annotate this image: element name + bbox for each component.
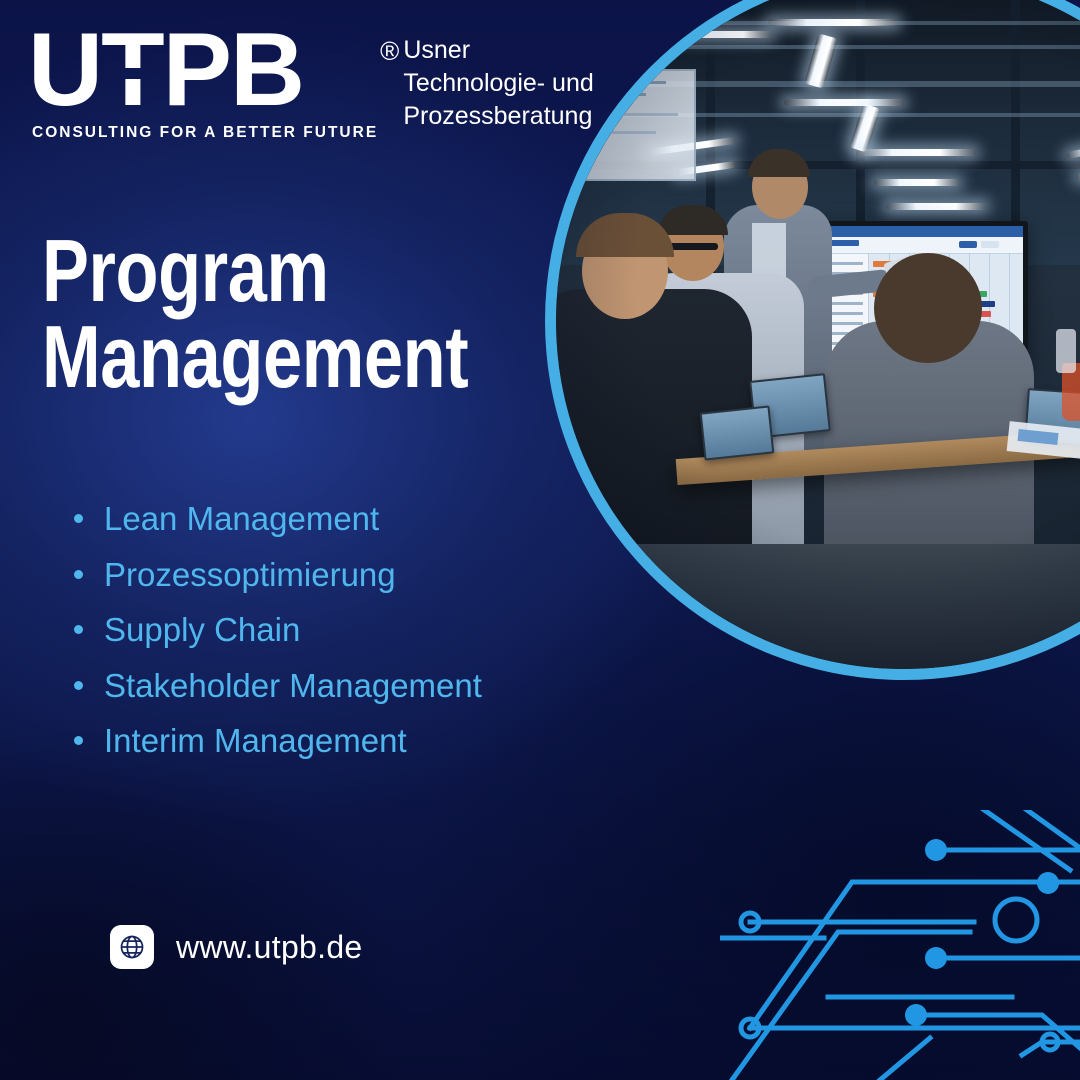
- circuit-node-dot: [1037, 872, 1059, 894]
- page-title: Program Management: [42, 228, 468, 400]
- services-list: Lean Management Prozessoptimierung Suppl…: [66, 502, 482, 780]
- bullet-dot-icon: [74, 625, 83, 634]
- bullet-dot-icon: [74, 514, 83, 523]
- marketing-poster: U T P B CONSULTING FOR A BETTER FUTURE ®…: [0, 0, 1080, 1080]
- logo-wordmark: U T P B: [28, 22, 378, 120]
- list-item-label: Supply Chain: [104, 611, 300, 648]
- globe-icon: [110, 925, 154, 969]
- photo-scene: [556, 0, 1080, 669]
- list-item: Stakeholder Management: [66, 669, 482, 702]
- brand-logo: U T P B CONSULTING FOR A BETTER FUTURE ®…: [28, 22, 594, 142]
- list-item: Supply Chain: [66, 613, 482, 646]
- circuit-node-dot: [905, 1004, 927, 1026]
- circuit-node-dot: [925, 839, 947, 861]
- list-item-label: Prozessoptimierung: [104, 556, 396, 593]
- list-item: Interim Management: [66, 724, 482, 757]
- company-name-line-1: Usner: [403, 34, 593, 67]
- logo-letter-u: U: [28, 22, 101, 120]
- bullet-dot-icon: [74, 570, 83, 579]
- logo-letter-t: T: [101, 22, 163, 120]
- company-name: Usner Technologie- und Prozessberatung: [403, 34, 593, 133]
- registered-trademark-icon: ®: [380, 38, 399, 64]
- website-footer[interactable]: www.utpb.de: [110, 925, 363, 969]
- brand-tagline: CONSULTING FOR A BETTER FUTURE: [32, 124, 378, 142]
- page-title-line-1: Program: [42, 228, 468, 314]
- bullet-dot-icon: [74, 681, 83, 690]
- logo-letter-b: B: [230, 22, 303, 120]
- list-item-label: Lean Management: [104, 500, 379, 537]
- hero-photo-circle: [545, 0, 1080, 680]
- list-item-label: Interim Management: [104, 722, 407, 759]
- list-item: Prozessoptimierung: [66, 558, 482, 591]
- hero-photo: [556, 0, 1080, 669]
- logo-secondary: ® Usner Technologie- und Prozessberatung: [380, 34, 594, 133]
- list-item-label: Stakeholder Management: [104, 667, 482, 704]
- list-item: Lean Management: [66, 502, 482, 535]
- page-title-line-2: Management: [42, 314, 468, 400]
- bullet-dot-icon: [74, 736, 83, 745]
- company-name-line-2: Technologie- und: [403, 67, 593, 100]
- company-name-line-3: Prozessberatung: [403, 100, 593, 133]
- circuit-node-ring: [995, 899, 1037, 941]
- logo-t-notch: [122, 68, 142, 79]
- logo-letter-p: P: [163, 22, 230, 120]
- circuit-node-dot: [925, 947, 947, 969]
- circuit-board-pattern: [720, 810, 1080, 1080]
- website-url[interactable]: www.utpb.de: [176, 929, 363, 966]
- logo-primary: U T P B CONSULTING FOR A BETTER FUTURE: [28, 22, 378, 142]
